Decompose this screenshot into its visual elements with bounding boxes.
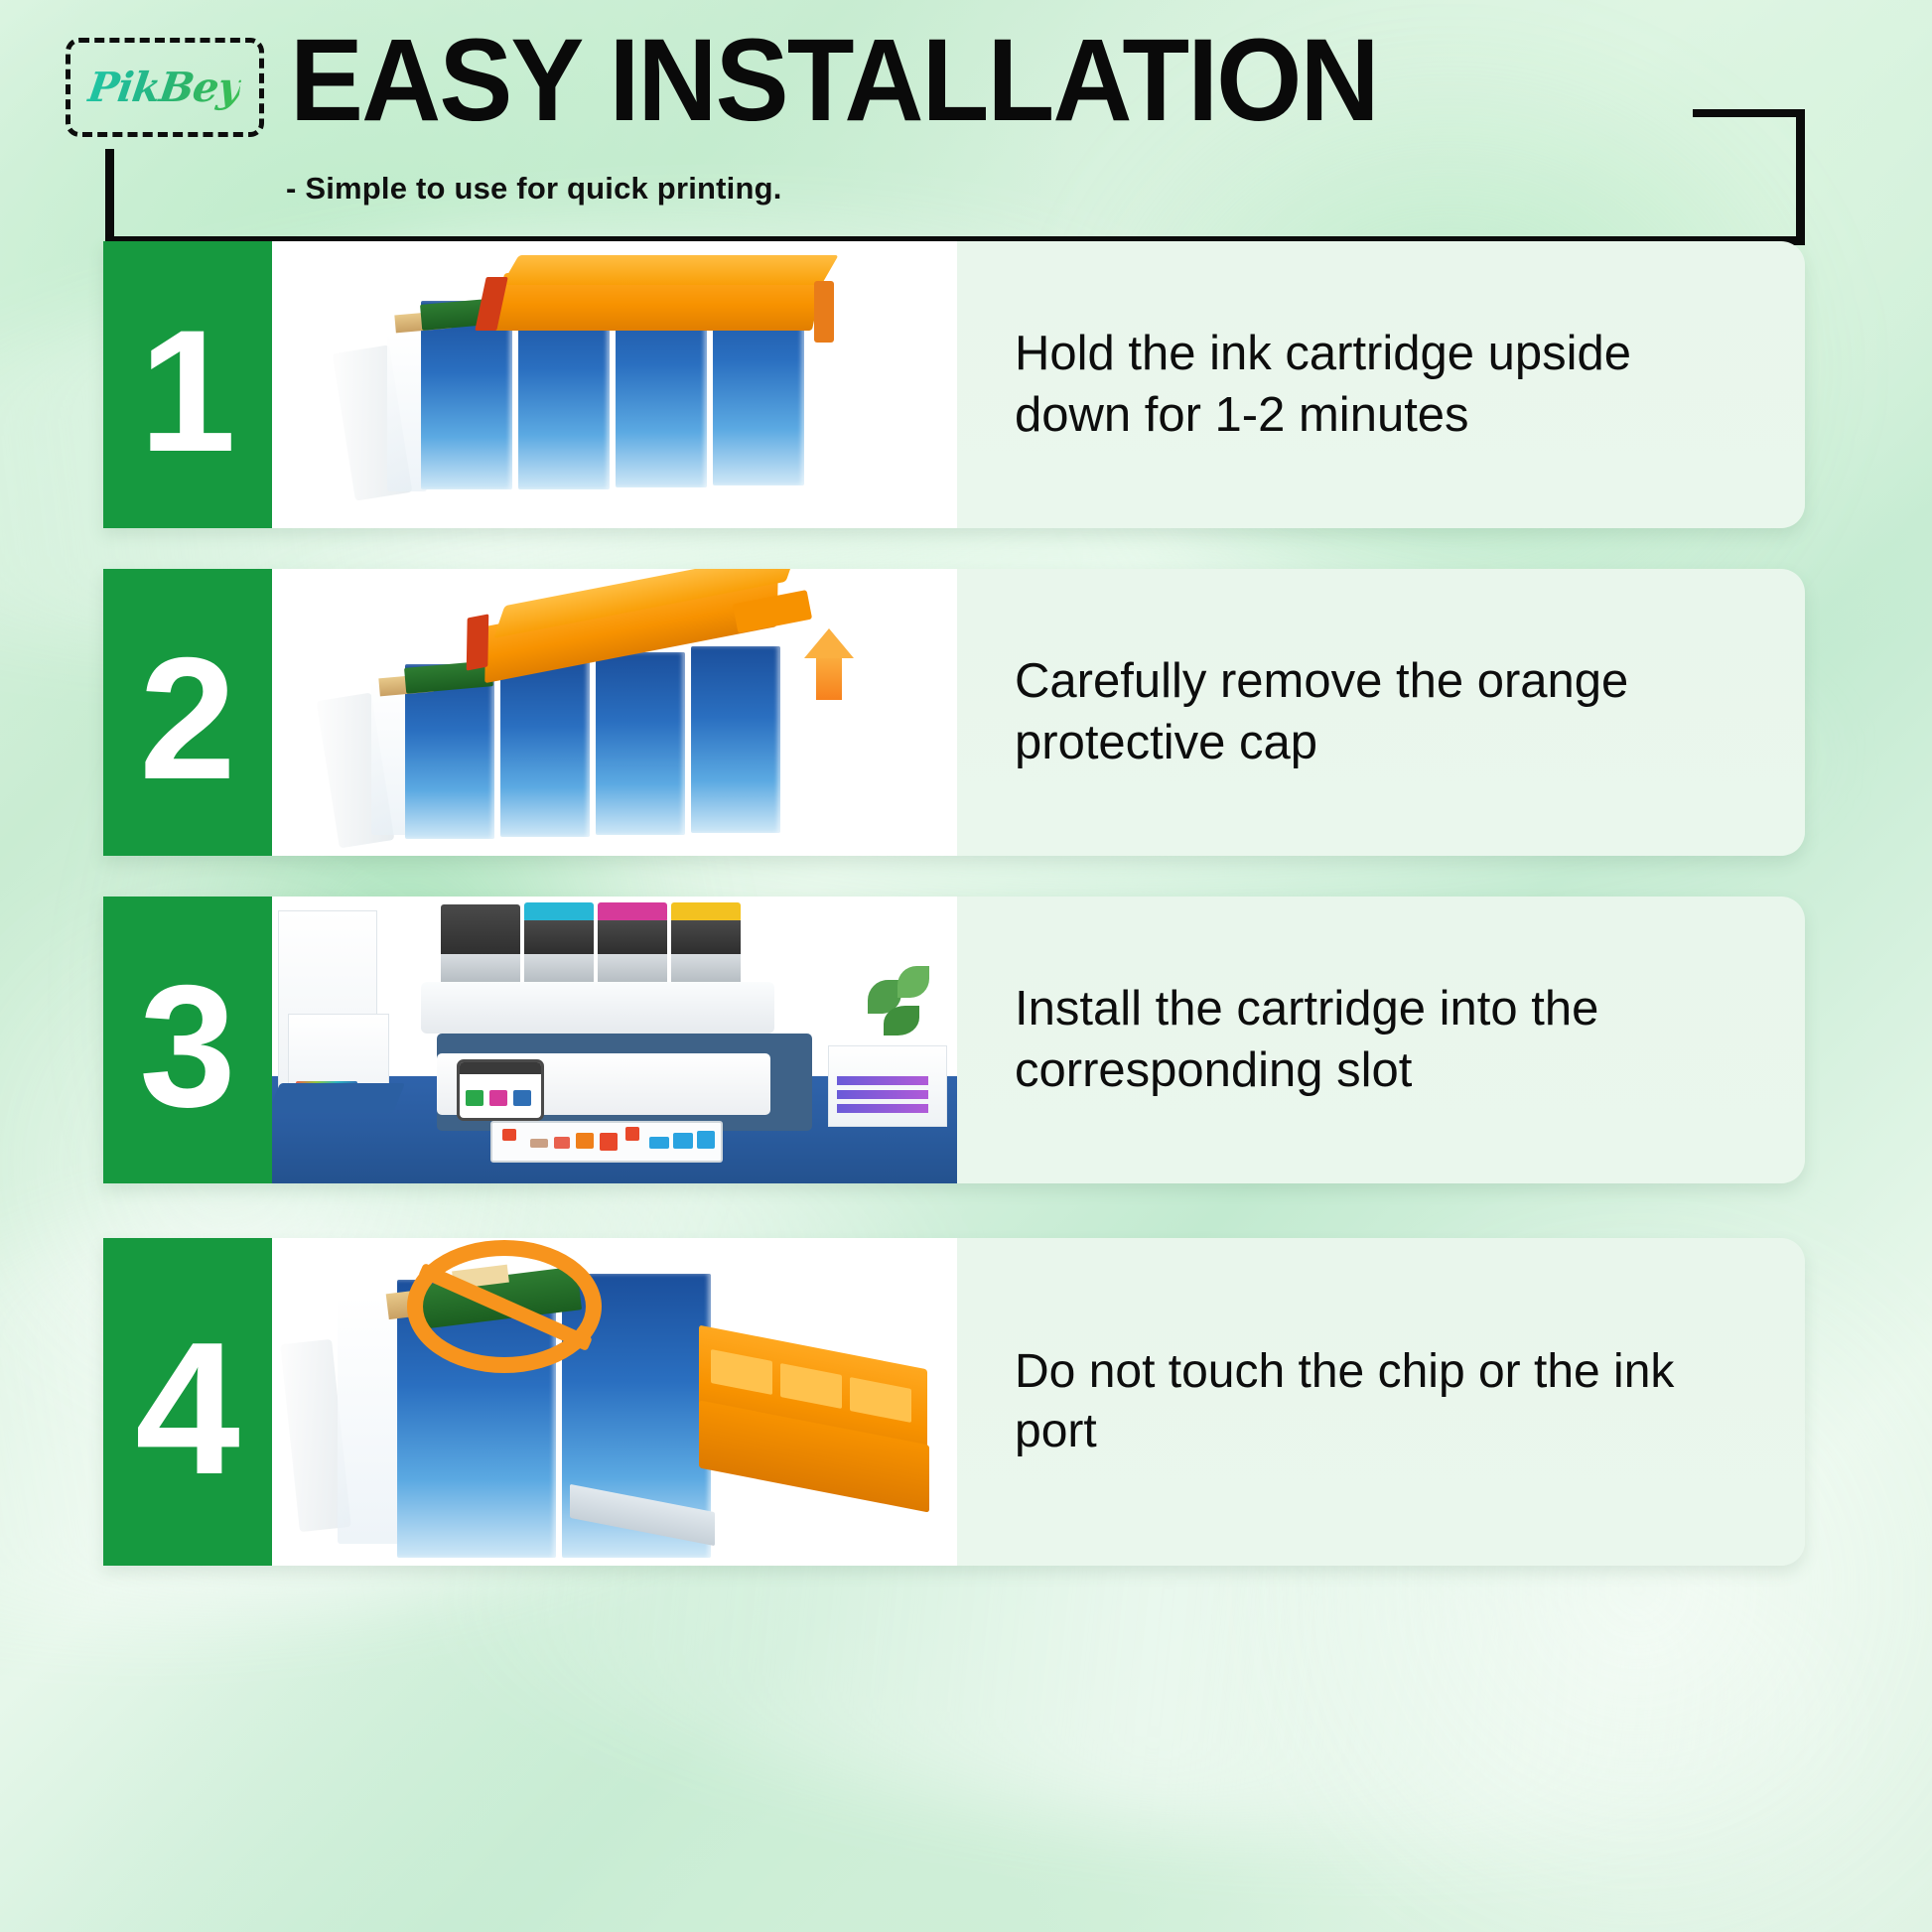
tray-swatch bbox=[530, 1139, 548, 1148]
cartridge-cyan-icon bbox=[524, 902, 594, 922]
step-text-panel-2: Carefully remove the orange protective c… bbox=[957, 569, 1805, 856]
step-number-block-4: 4 bbox=[103, 1238, 272, 1566]
step-number-2: 2 bbox=[139, 650, 235, 789]
step-card-2: 2 Carefully remove the orange protective… bbox=[103, 569, 1805, 856]
cartridge-magenta-body-icon bbox=[598, 920, 667, 956]
printed-document-sample bbox=[828, 1045, 947, 1127]
cartridge-black-icon bbox=[441, 904, 520, 960]
document-color-bar bbox=[837, 1076, 928, 1085]
step-card-1: 1 Hold the ink cartridge upside down for… bbox=[103, 241, 1805, 528]
cartridge-orange-cap-tab-icon bbox=[814, 281, 834, 343]
screen-icon-copy bbox=[466, 1090, 483, 1106]
step-text-panel-4: Do not touch the chip or the ink port bbox=[957, 1238, 1805, 1566]
step-number-block-1: 1 bbox=[103, 241, 272, 528]
cartridge-clear-wall-icon bbox=[371, 680, 409, 835]
header: PikBey EASY INSTALLATION - Simple to use… bbox=[0, 0, 1932, 248]
screen-icon-scan bbox=[489, 1090, 507, 1106]
screen-icon-fax bbox=[513, 1090, 531, 1106]
cartridge-cap-seal-icon bbox=[467, 614, 489, 670]
step-image-3 bbox=[272, 897, 957, 1183]
header-frame-top-tick bbox=[1693, 109, 1805, 117]
step-image-2 bbox=[272, 569, 957, 856]
screen-status-bar bbox=[460, 1062, 541, 1074]
up-arrow-icon bbox=[816, 654, 842, 700]
pikbey-logo: PikBey bbox=[85, 64, 244, 111]
cartridge-clear-wall-icon bbox=[338, 1296, 403, 1544]
cartridge-ink-panel-icon bbox=[500, 658, 590, 837]
step-text-4: Do not touch the chip or the ink port bbox=[1015, 1342, 1710, 1462]
cartridge-magenta-icon bbox=[598, 902, 667, 922]
tray-swatch bbox=[502, 1129, 516, 1141]
cartridge-yellow-body-icon bbox=[671, 920, 741, 956]
step-text-2: Carefully remove the orange protective c… bbox=[1015, 651, 1710, 773]
plant-leaf-icon bbox=[897, 966, 929, 998]
page-title: EASY INSTALLATION bbox=[290, 22, 1378, 139]
step-text-panel-3: Install the cartridge into the correspon… bbox=[957, 897, 1805, 1183]
tray-swatch bbox=[625, 1127, 639, 1141]
step-number-block-2: 2 bbox=[103, 569, 272, 856]
step-number-3: 3 bbox=[139, 978, 235, 1117]
cartridge-orange-cap-top-icon bbox=[501, 255, 838, 285]
printer-output-tray bbox=[490, 1121, 723, 1163]
header-frame-left-rule bbox=[105, 149, 114, 244]
step-text-1: Hold the ink cartridge upside down for 1… bbox=[1015, 324, 1710, 446]
plant-leaf-icon bbox=[884, 1006, 919, 1035]
header-frame-right-rule bbox=[1796, 109, 1805, 244]
step-image-1 bbox=[272, 241, 957, 528]
step-text-3: Install the cartridge into the correspon… bbox=[1015, 979, 1710, 1101]
tray-swatch bbox=[600, 1133, 618, 1151]
step-number-block-3: 3 bbox=[103, 897, 272, 1183]
tray-swatch bbox=[673, 1133, 693, 1149]
cartridge-ink-panel-icon bbox=[691, 646, 780, 833]
tray-swatch bbox=[697, 1131, 715, 1149]
tray-swatch bbox=[576, 1133, 594, 1149]
document-color-bar bbox=[837, 1090, 928, 1099]
step-text-panel-1: Hold the ink cartridge upside down for 1… bbox=[957, 241, 1805, 528]
cartridge-ink-panel-icon bbox=[596, 652, 685, 835]
step-card-4: 4 Do not touch the chip or the ink port bbox=[103, 1238, 1805, 1566]
up-arrow-head-icon bbox=[804, 628, 854, 658]
cartridge-cyan-body-icon bbox=[524, 920, 594, 956]
blue-folder-icon bbox=[272, 1083, 405, 1113]
step-card-3: 3 bbox=[103, 897, 1805, 1183]
cartridge-yellow-icon bbox=[671, 902, 741, 922]
printer-touchscreen bbox=[457, 1059, 544, 1121]
step-number-1: 1 bbox=[139, 323, 235, 462]
tray-swatch bbox=[554, 1137, 570, 1149]
step-image-4 bbox=[272, 1238, 957, 1566]
tray-swatch bbox=[649, 1137, 669, 1149]
logo-box: PikBey bbox=[66, 38, 264, 137]
document-color-bar bbox=[837, 1104, 928, 1113]
step-number-4: 4 bbox=[135, 1333, 240, 1484]
printer-lid bbox=[421, 982, 774, 1034]
page-subtitle: - Simple to use for quick printing. bbox=[286, 171, 782, 207]
